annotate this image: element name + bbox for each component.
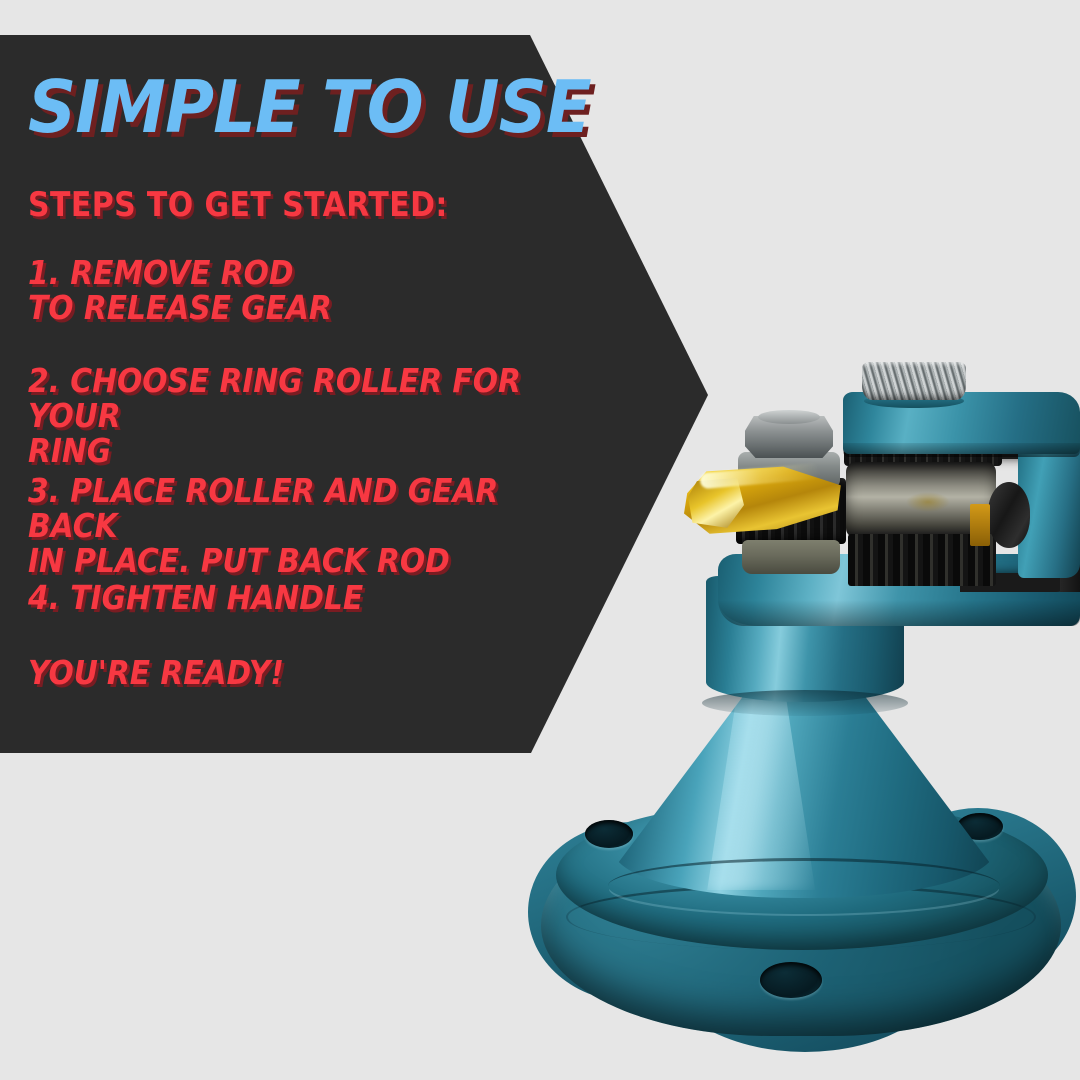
hex-bolt-top [758,410,820,424]
cone-base-ring [608,858,1000,914]
step-3: 3. PLACE ROLLER AND GEAR BACK IN PLACE. … [28,473,568,578]
mounting-bolt-hole-front [760,962,822,998]
amber-chip [970,504,990,546]
poster-canvas: SIMPLE TO USE STEPS TO GET STARTED: 1. R… [0,0,1080,1080]
knurled-knob [862,362,966,400]
left-gear-base [742,540,840,574]
step-1: 1. REMOVE ROD TO RELEASE GEAR [28,255,332,325]
step-4: 4. TIGHTEN HANDLE [28,580,363,615]
yoke-plate-edge [843,443,1080,457]
arm-under-shadow [718,600,1080,626]
steps-subtitle: STEPS TO GET STARTED: [28,185,448,225]
closing-message: YOU'RE READY! [28,655,284,690]
mounting-bolt-hole-left [585,820,633,848]
column-bottom-shadow [702,690,908,716]
page-title: SIMPLE TO USE [28,68,591,146]
small-black-roller [988,482,1030,548]
roller-grime-mark [906,492,950,512]
step-2: 2. CHOOSE RING ROLLER FOR YOUR RING [28,363,568,468]
